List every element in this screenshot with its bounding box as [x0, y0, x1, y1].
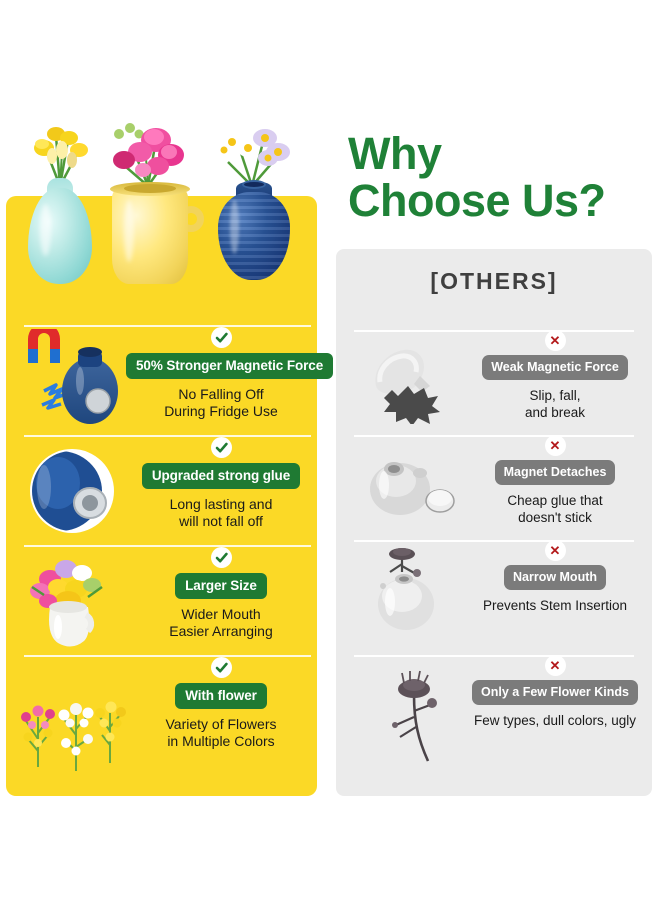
us-feature-row-3: Larger Size Wider Mouth Easier Arranging	[6, 545, 317, 655]
glued-magnet-closeup-image	[14, 439, 126, 541]
others-panel-title: [OTHERS]	[336, 268, 652, 295]
us-feature-sub-2: Long lasting and will not fall off	[126, 496, 316, 530]
sub-line: Long lasting and	[126, 496, 316, 513]
others-feature-text-2: ✕ Magnet Detaches Cheap glue that doesn'…	[460, 435, 650, 526]
us-feature-sub-1: No Falling Off During Fridge Use	[126, 386, 316, 420]
narrow-mouth-vase-image	[366, 546, 462, 634]
magnet-and-blue-vase-image	[14, 329, 126, 431]
others-feature-row-3: ✕ Narrow Mouth Prevents Stem Insertion	[336, 540, 652, 640]
us-feature-sub-4: Variety of Flowers in Multiple Colors	[126, 716, 316, 750]
navy-jar-mouth	[242, 180, 266, 189]
sub-line: doesn't stick	[460, 509, 650, 526]
x-mark-icon: ✕	[545, 435, 566, 456]
others-feature-row-2: ✕ Magnet Detaches Cheap glue that doesn'…	[336, 435, 652, 535]
others-feature-badge-3: Narrow Mouth	[504, 565, 606, 590]
page-title: Why Choose Us?	[348, 130, 648, 224]
page-title-line2: Choose Us?	[348, 177, 648, 224]
others-feature-badge-2: Magnet Detaches	[495, 460, 616, 485]
sub-line: will not fall off	[126, 513, 316, 530]
others-feature-sub-4: Few types, dull colors, ugly	[460, 712, 650, 729]
us-feature-badge-3: Larger Size	[175, 573, 267, 599]
us-feature-text-1: 50% Stronger Magnetic Force No Falling O…	[126, 327, 316, 420]
us-feature-row-1: 50% Stronger Magnetic Force No Falling O…	[6, 325, 317, 435]
detached-magnet-vase-image	[366, 441, 462, 529]
us-feature-row-2: Upgraded strong glue Long lasting and wi…	[6, 435, 317, 545]
us-feature-text-2: Upgraded strong glue Long lasting and wi…	[126, 437, 316, 530]
us-feature-badge-4: With flower	[175, 683, 267, 709]
yellow-pitcher-mouth	[124, 184, 176, 193]
others-feature-text-3: ✕ Narrow Mouth Prevents Stem Insertion	[460, 540, 650, 614]
sub-line: No Falling Off	[126, 386, 316, 403]
sub-line: Slip, fall,	[460, 387, 650, 404]
us-feature-badge-2: Upgraded strong glue	[142, 463, 300, 489]
others-feature-sub-1: Slip, fall, and break	[460, 387, 650, 421]
sub-line: Prevents Stem Insertion	[460, 597, 650, 614]
others-feature-text-1: ✕ Weak Magnetic Force Slip, fall, and br…	[460, 330, 650, 421]
sub-line: Few types, dull colors, ugly	[460, 712, 650, 729]
x-mark-icon: ✕	[545, 330, 566, 351]
x-mark-icon: ✕	[545, 655, 566, 676]
sub-line: and break	[460, 404, 650, 421]
sub-line: Cheap glue that	[460, 492, 650, 509]
us-feature-row-4: With flower Variety of Flowers in Multip…	[6, 655, 317, 785]
us-feature-text-4: With flower Variety of Flowers in Multip…	[126, 657, 316, 750]
check-icon	[211, 547, 232, 568]
others-feature-badge-4: Only a Few Flower Kinds	[472, 680, 638, 705]
others-feature-row-4: ✕ Only a Few Flower Kinds Few types, dul…	[336, 655, 652, 775]
check-icon	[211, 327, 232, 348]
x-mark-icon: ✕	[545, 540, 566, 561]
sub-line: in Multiple Colors	[126, 733, 316, 750]
us-feature-sub-3: Wider Mouth Easier Arranging	[126, 606, 316, 640]
others-feature-sub-3: Prevents Stem Insertion	[460, 597, 650, 614]
navy-jar-highlight	[230, 200, 239, 254]
others-feature-badge-1: Weak Magnetic Force	[482, 355, 628, 380]
falling-breaking-vase-image	[366, 336, 462, 424]
white-pitcher-bouquet-image	[14, 549, 126, 651]
page-title-line1: Why	[348, 130, 648, 177]
check-icon	[211, 437, 232, 458]
sub-line: During Fridge Use	[126, 403, 316, 420]
infographic-page: 50% Stronger Magnetic Force No Falling O…	[0, 0, 660, 900]
check-icon	[211, 657, 232, 678]
others-feature-text-4: ✕ Only a Few Flower Kinds Few types, dul…	[460, 655, 650, 729]
yellow-pitcher-highlight	[124, 200, 134, 262]
others-feature-row-1: ✕ Weak Magnetic Force Slip, fall, and br…	[336, 330, 652, 430]
sub-line: Variety of Flowers	[126, 716, 316, 733]
single-dried-flower-image	[366, 665, 462, 775]
assorted-flower-sprays-image	[14, 659, 126, 779]
others-feature-sub-2: Cheap glue that doesn't stick	[460, 492, 650, 526]
mint-vase-highlight	[40, 204, 51, 256]
sub-line: Wider Mouth	[126, 606, 316, 623]
sub-line: Easier Arranging	[126, 623, 316, 640]
us-feature-badge-1: 50% Stronger Magnetic Force	[126, 353, 333, 379]
hero-vases-image	[6, 100, 317, 270]
us-feature-text-3: Larger Size Wider Mouth Easier Arranging	[126, 547, 316, 640]
